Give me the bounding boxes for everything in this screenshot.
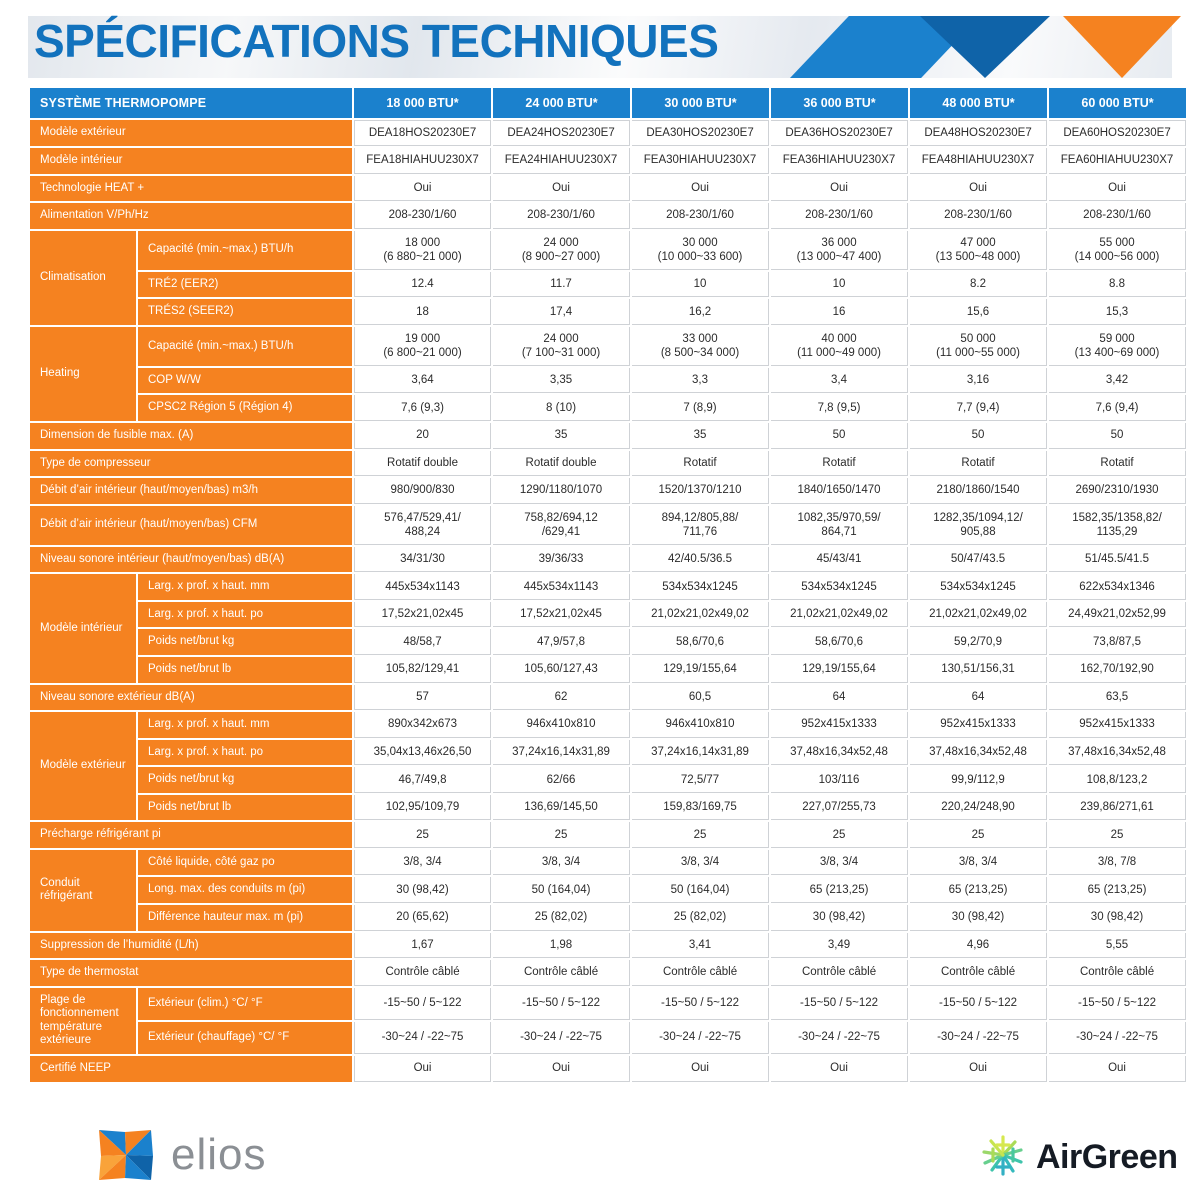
page-footer: elios [0, 1118, 1200, 1200]
cell-value: 8.8 [1049, 272, 1186, 298]
row-sublabel: Larg. x prof. x haut. po [138, 602, 352, 628]
cell-value: 3/8, 3/4 [632, 850, 769, 876]
cell-value: 7,7 (9,4) [910, 395, 1047, 421]
airgreen-logo: AirGreen [980, 1132, 1178, 1183]
cell-value: 45/43/41 [771, 547, 908, 573]
cell-value: 65 (213,25) [1049, 877, 1186, 903]
cell-value: 59 000(13 400~69 000) [1049, 327, 1186, 366]
elios-wordmark: elios [171, 1130, 267, 1180]
table-row: Technologie HEAT +OuiOuiOuiOuiOuiOui [30, 176, 1186, 202]
cell-value: 239,86/271,61 [1049, 795, 1186, 821]
cell-value: 1582,35/1358,82/1135,29 [1049, 506, 1186, 545]
cell-value: 50 [771, 423, 908, 449]
row-sublabel: Capacité (min.~max.) BTU/h [138, 327, 352, 366]
table-row: HeatingCapacité (min.~max.) BTU/h19 000(… [30, 327, 1186, 366]
header-column-5: 48 000 BTU* [910, 88, 1047, 118]
cell-value: 4,96 [910, 933, 1047, 959]
cell-value: 102,95/109,79 [354, 795, 491, 821]
table-row: Modèle extérieurDEA18HOS20230E7DEA24HOS2… [30, 120, 1186, 146]
cell-value: 3,3 [632, 368, 769, 394]
cell-value: 25 [632, 822, 769, 848]
cell-value: 33 000(8 500~34 000) [632, 327, 769, 366]
header-column-2: 24 000 BTU* [493, 88, 630, 118]
cell-value: 57 [354, 685, 491, 711]
cell-value: 952x415x1333 [910, 712, 1047, 738]
cell-value: 11.7 [493, 272, 630, 298]
cell-value: 445x534x1143 [493, 574, 630, 600]
cell-value: 3/8, 7/8 [1049, 850, 1186, 876]
cell-value: 108,8/123,2 [1049, 767, 1186, 793]
cell-value: 3/8, 3/4 [493, 850, 630, 876]
cell-value: 24 000(8 900~27 000) [493, 231, 630, 270]
cell-value: 894,12/805,88/711,76 [632, 506, 769, 545]
cell-value: 3,49 [771, 933, 908, 959]
row-label: Certifié NEEP [30, 1056, 352, 1082]
cell-value: 3,64 [354, 368, 491, 394]
cell-value: 8.2 [910, 272, 1047, 298]
row-group-label: Modèle intérieur [30, 574, 136, 682]
cell-value: 208-230/1/60 [910, 203, 1047, 229]
airgreen-wordmark: AirGreen [1036, 1138, 1178, 1177]
cell-value: Oui [1049, 176, 1186, 202]
cell-value: Oui [493, 1056, 630, 1082]
row-label: Débit d’air intérieur (haut/moyen/bas) C… [30, 506, 352, 545]
cell-value: Oui [771, 1056, 908, 1082]
row-sublabel: Larg. x prof. x haut. po [138, 740, 352, 766]
cell-value: 208-230/1/60 [771, 203, 908, 229]
cell-value: Contrôle câblé [910, 960, 1047, 986]
cell-value: 18 [354, 299, 491, 325]
cell-value: 24,49x21,02x52,99 [1049, 602, 1186, 628]
cell-value: Rotatif [910, 451, 1047, 477]
cell-value: 36 000(13 000~47 400) [771, 231, 908, 270]
cell-value: 50 (164,04) [632, 877, 769, 903]
cell-value: 12.4 [354, 272, 491, 298]
cell-value: 62/66 [493, 767, 630, 793]
table-row: Débit d’air intérieur (haut/moyen/bas) m… [30, 478, 1186, 504]
cell-value: 18 000(6 880~21 000) [354, 231, 491, 270]
cell-value: -30~24 / -22~75 [771, 1022, 908, 1054]
table-row: Plage de fonctionnement température exté… [30, 988, 1186, 1020]
cell-value: Oui [1049, 1056, 1186, 1082]
cell-value: 220,24/248,90 [910, 795, 1047, 821]
cell-value: FEA60HIAHUU230X7 [1049, 148, 1186, 174]
cell-value: 2690/2310/1930 [1049, 478, 1186, 504]
cell-value: 50 (164,04) [493, 877, 630, 903]
cell-value: -30~24 / -22~75 [910, 1022, 1047, 1054]
table-row: TRÉS2 (SEER2)1817,416,21615,615,3 [30, 299, 1186, 325]
cell-value: 37,48x16,34x52,48 [1049, 740, 1186, 766]
cell-value: 105,82/129,41 [354, 657, 491, 683]
cell-value: 3,4 [771, 368, 908, 394]
cell-value: Oui [771, 176, 908, 202]
table-row: Niveau sonore intérieur (haut/moyen/bas)… [30, 547, 1186, 573]
cell-value: 16,2 [632, 299, 769, 325]
cell-value: 445x534x1143 [354, 574, 491, 600]
cell-value: 758,82/694,12/629,41 [493, 506, 630, 545]
cell-value: 208-230/1/60 [354, 203, 491, 229]
cell-value: 50 [1049, 423, 1186, 449]
cell-value: 952x415x1333 [1049, 712, 1186, 738]
cell-value: 34/31/30 [354, 547, 491, 573]
cell-value: FEA36HIAHUU230X7 [771, 148, 908, 174]
header-column-3: 30 000 BTU* [632, 88, 769, 118]
row-label: Dimension de fusible max. (A) [30, 423, 352, 449]
cell-value: 73,8/87,5 [1049, 629, 1186, 655]
cell-value: Contrôle câblé [632, 960, 769, 986]
cell-value: 48/58,7 [354, 629, 491, 655]
cell-value: Oui [493, 176, 630, 202]
cell-value: 25 [771, 822, 908, 848]
cell-value: 35,04x13,46x26,50 [354, 740, 491, 766]
table-row: Type de thermostatContrôle câbléContrôle… [30, 960, 1186, 986]
cell-value: 25 (82,02) [493, 905, 630, 931]
row-label: Niveau sonore extérieur dB(A) [30, 685, 352, 711]
table-row: Précharge réfrigérant pi252525252525 [30, 822, 1186, 848]
spec-sheet-page: SPÉCIFICATIONS TECHNIQUES SYSTÈME THERMO… [0, 0, 1200, 1200]
table-row: Poids net/brut kg46,7/49,862/6672,5/7710… [30, 767, 1186, 793]
cell-value: 17,52x21,02x45 [354, 602, 491, 628]
cell-value: 7,8 (9,5) [771, 395, 908, 421]
row-group-label: Plage de fonctionnement température exté… [30, 988, 136, 1054]
row-sublabel: Côté liquide, côté gaz po [138, 850, 352, 876]
cell-value: Contrôle câblé [1049, 960, 1186, 986]
row-label: Modèle intérieur [30, 148, 352, 174]
cell-value: 37,48x16,34x52,48 [771, 740, 908, 766]
cell-value: 20 [354, 423, 491, 449]
row-sublabel: TRÉ2 (EER2) [138, 272, 352, 298]
cell-value: DEA30HOS20230E7 [632, 120, 769, 146]
cell-value: 30 000(10 000~33 600) [632, 231, 769, 270]
row-label: Niveau sonore intérieur (haut/moyen/bas)… [30, 547, 352, 573]
row-sublabel: Extérieur (chauffage) °C/ °F [138, 1022, 352, 1054]
header-column-6: 60 000 BTU* [1049, 88, 1186, 118]
cell-value: 129,19/155,64 [771, 657, 908, 683]
header-label-cell: SYSTÈME THERMOPOMPE [30, 88, 352, 118]
cell-value: 25 [354, 822, 491, 848]
cell-value: Rotatif double [354, 451, 491, 477]
cell-value: -15~50 / 5~122 [354, 988, 491, 1020]
cell-value: 65 (213,25) [910, 877, 1047, 903]
cell-value: 3/8, 3/4 [910, 850, 1047, 876]
cell-value: Contrôle câblé [354, 960, 491, 986]
cell-value: 890x342x673 [354, 712, 491, 738]
cell-value: 534x534x1245 [632, 574, 769, 600]
table-row: Larg. x prof. x haut. po17,52x21,02x4517… [30, 602, 1186, 628]
table-row: Certifié NEEPOuiOuiOuiOuiOuiOui [30, 1056, 1186, 1082]
cell-value: 7 (8,9) [632, 395, 769, 421]
cell-value: 3,42 [1049, 368, 1186, 394]
row-label: Alimentation V/Ph/Hz [30, 203, 352, 229]
cell-value: 130,51/156,31 [910, 657, 1047, 683]
cell-value: -30~24 / -22~75 [632, 1022, 769, 1054]
cell-value: 10 [632, 272, 769, 298]
row-sublabel: TRÉS2 (SEER2) [138, 299, 352, 325]
cell-value: 59,2/70,9 [910, 629, 1047, 655]
header-column-4: 36 000 BTU* [771, 88, 908, 118]
table-row: Larg. x prof. x haut. po35,04x13,46x26,5… [30, 740, 1186, 766]
cell-value: 1,67 [354, 933, 491, 959]
cell-value: 99,9/112,9 [910, 767, 1047, 793]
table-row: Suppression de l’humidité (L/h)1,671,983… [30, 933, 1186, 959]
cell-value: 17,52x21,02x45 [493, 602, 630, 628]
cell-value: 534x534x1245 [910, 574, 1047, 600]
cell-value: Oui [354, 1056, 491, 1082]
cell-value: 1082,35/970,59/864,71 [771, 506, 908, 545]
cell-value: 7,6 (9,3) [354, 395, 491, 421]
table-row: Type de compresseurRotatif doubleRotatif… [30, 451, 1186, 477]
cell-value: Oui [910, 176, 1047, 202]
cell-value: 50 [910, 423, 1047, 449]
cell-value: 35 [493, 423, 630, 449]
table-row: Modèle intérieurLarg. x prof. x haut. mm… [30, 574, 1186, 600]
cell-value: 72,5/77 [632, 767, 769, 793]
cell-value: 25 [910, 822, 1047, 848]
cell-value: 2180/1860/1540 [910, 478, 1047, 504]
cell-value: 17,4 [493, 299, 630, 325]
row-group-label: Climatisation [30, 231, 136, 325]
page-title: SPÉCIFICATIONS TECHNIQUES [34, 14, 718, 68]
table-row: Modèle intérieurFEA18HIAHUU230X7FEA24HIA… [30, 148, 1186, 174]
cell-value: 30 (98,42) [771, 905, 908, 931]
cell-value: 946x410x810 [632, 712, 769, 738]
table-row: Long. max. des conduits m (pi)30 (98,42)… [30, 877, 1186, 903]
cell-value: Rotatif [771, 451, 908, 477]
table-row: TRÉ2 (EER2)12.411.710108.28.8 [30, 272, 1186, 298]
table-row: Débit d’air intérieur (haut/moyen/bas) C… [30, 506, 1186, 545]
cell-value: 1282,35/1094,12/905,88 [910, 506, 1047, 545]
spec-table: SYSTÈME THERMOPOMPE18 000 BTU*24 000 BTU… [28, 86, 1188, 1084]
cell-value: 47 000(13 500~48 000) [910, 231, 1047, 270]
cell-value: Oui [354, 176, 491, 202]
table-header-row: SYSTÈME THERMOPOMPE18 000 BTU*24 000 BTU… [30, 88, 1186, 118]
table-row: Conduit réfrigérantCôté liquide, côté ga… [30, 850, 1186, 876]
cell-value: Contrôle câblé [493, 960, 630, 986]
cell-value: -30~24 / -22~75 [1049, 1022, 1186, 1054]
cell-value: 35 [632, 423, 769, 449]
row-label: Modèle extérieur [30, 120, 352, 146]
cell-value: DEA48HOS20230E7 [910, 120, 1047, 146]
table-row: Modèle extérieurLarg. x prof. x haut. mm… [30, 712, 1186, 738]
cell-value: 129,19/155,64 [632, 657, 769, 683]
row-group-label: Modèle extérieur [30, 712, 136, 820]
spec-table-body: SYSTÈME THERMOPOMPE18 000 BTU*24 000 BTU… [30, 88, 1186, 1082]
table-row: Extérieur (chauffage) °C/ °F-30~24 / -22… [30, 1022, 1186, 1054]
table-row: Dimension de fusible max. (A)20353550505… [30, 423, 1186, 449]
cell-value: FEA30HIAHUU230X7 [632, 148, 769, 174]
cell-value: FEA48HIAHUU230X7 [910, 148, 1047, 174]
cell-value: 1520/1370/1210 [632, 478, 769, 504]
cell-value: Rotatif double [493, 451, 630, 477]
cell-value: 1,98 [493, 933, 630, 959]
cell-value: 16 [771, 299, 908, 325]
row-sublabel: Larg. x prof. x haut. mm [138, 574, 352, 600]
row-group-label: Heating [30, 327, 136, 421]
cell-value: Rotatif [632, 451, 769, 477]
elios-pinwheel-icon [95, 1124, 157, 1186]
row-label: Suppression de l’humidité (L/h) [30, 933, 352, 959]
cell-value: 159,83/169,75 [632, 795, 769, 821]
row-sublabel: Poids net/brut kg [138, 629, 352, 655]
cell-value: 227,07/255,73 [771, 795, 908, 821]
cell-value: -15~50 / 5~122 [493, 988, 630, 1020]
cell-value: Rotatif [1049, 451, 1186, 477]
cell-value: 47,9/57,8 [493, 629, 630, 655]
row-label: Type de compresseur [30, 451, 352, 477]
row-sublabel: Capacité (min.~max.) BTU/h [138, 231, 352, 270]
cell-value: 64 [910, 685, 1047, 711]
cell-value: 58,6/70,6 [771, 629, 908, 655]
cell-value: 63,5 [1049, 685, 1186, 711]
cell-value: 3,35 [493, 368, 630, 394]
cell-value: 19 000(6 800~21 000) [354, 327, 491, 366]
cell-value: Contrôle câblé [771, 960, 908, 986]
cell-value: 25 [493, 822, 630, 848]
cell-value: FEA18HIAHUU230X7 [354, 148, 491, 174]
row-sublabel: COP W/W [138, 368, 352, 394]
table-row: ClimatisationCapacité (min.~max.) BTU/h1… [30, 231, 1186, 270]
cell-value: -15~50 / 5~122 [632, 988, 769, 1020]
cell-value: 65 (213,25) [771, 877, 908, 903]
row-sublabel: Poids net/brut lb [138, 795, 352, 821]
cell-value: 8 (10) [493, 395, 630, 421]
cell-value: DEA18HOS20230E7 [354, 120, 491, 146]
cell-value: 15,3 [1049, 299, 1186, 325]
cell-value: Oui [632, 176, 769, 202]
table-row: Différence hauteur max. m (pi)20 (65,62)… [30, 905, 1186, 931]
cell-value: 1840/1650/1470 [771, 478, 908, 504]
cell-value: 622x534x1346 [1049, 574, 1186, 600]
table-row: CPSC2 Région 5 (Région 4)7,6 (9,3)8 (10)… [30, 395, 1186, 421]
row-group-label: Conduit réfrigérant [30, 850, 136, 931]
row-sublabel: Long. max. des conduits m (pi) [138, 877, 352, 903]
cell-value: -30~24 / -22~75 [354, 1022, 491, 1054]
table-row: Poids net/brut kg48/58,747,9/57,858,6/70… [30, 629, 1186, 655]
cell-value: 980/900/830 [354, 478, 491, 504]
table-row: Poids net/brut lb102,95/109,79136,69/145… [30, 795, 1186, 821]
cell-value: 50 000(11 000~55 000) [910, 327, 1047, 366]
row-sublabel: Poids net/brut lb [138, 657, 352, 683]
spec-table-wrapper: SYSTÈME THERMOPOMPE18 000 BTU*24 000 BTU… [28, 86, 1172, 1084]
row-label: Technologie HEAT + [30, 176, 352, 202]
cell-value: DEA24HOS20230E7 [493, 120, 630, 146]
cell-value: 46,7/49,8 [354, 767, 491, 793]
cell-value: 30 (98,42) [910, 905, 1047, 931]
cell-value: 105,60/127,43 [493, 657, 630, 683]
cell-value: 51/45.5/41.5 [1049, 547, 1186, 573]
cell-value: 37,48x16,34x52,48 [910, 740, 1047, 766]
airgreen-starburst-icon [980, 1132, 1026, 1183]
row-sublabel: CPSC2 Région 5 (Région 4) [138, 395, 352, 421]
cell-value: 58,6/70,6 [632, 629, 769, 655]
cell-value: 30 (98,42) [1049, 905, 1186, 931]
cell-value: 1290/1180/1070 [493, 478, 630, 504]
row-sublabel: Larg. x prof. x haut. mm [138, 712, 352, 738]
cell-value: 50/47/43.5 [910, 547, 1047, 573]
cell-value: -30~24 / -22~75 [493, 1022, 630, 1054]
row-label: Débit d’air intérieur (haut/moyen/bas) m… [30, 478, 352, 504]
row-label: Type de thermostat [30, 960, 352, 986]
cell-value: 55 000(14 000~56 000) [1049, 231, 1186, 270]
cell-value: -15~50 / 5~122 [910, 988, 1047, 1020]
row-sublabel: Différence hauteur max. m (pi) [138, 905, 352, 931]
cell-value: 30 (98,42) [354, 877, 491, 903]
table-row: Poids net/brut lb105,82/129,41105,60/127… [30, 657, 1186, 683]
cell-value: 21,02x21,02x49,02 [771, 602, 908, 628]
cell-value: -15~50 / 5~122 [771, 988, 908, 1020]
cell-value: 3/8, 3/4 [771, 850, 908, 876]
cell-value: 64 [771, 685, 908, 711]
cell-value: 534x534x1245 [771, 574, 908, 600]
cell-value: 39/36/33 [493, 547, 630, 573]
cell-value: 136,69/145,50 [493, 795, 630, 821]
table-row: COP W/W3,643,353,33,43,163,42 [30, 368, 1186, 394]
cell-value: Oui [910, 1056, 1047, 1082]
cell-value: 40 000(11 000~49 000) [771, 327, 908, 366]
cell-value: 15,6 [910, 299, 1047, 325]
cell-value: -15~50 / 5~122 [1049, 988, 1186, 1020]
cell-value: 162,70/192,90 [1049, 657, 1186, 683]
page-header: SPÉCIFICATIONS TECHNIQUES [0, 0, 1200, 84]
cell-value: 3/8, 3/4 [354, 850, 491, 876]
cell-value: DEA36HOS20230E7 [771, 120, 908, 146]
cell-value: 208-230/1/60 [632, 203, 769, 229]
row-sublabel: Extérieur (clim.) °C/ °F [138, 988, 352, 1020]
cell-value: DEA60HOS20230E7 [1049, 120, 1186, 146]
cell-value: 7,6 (9,4) [1049, 395, 1186, 421]
cell-value: 37,24x16,14x31,89 [493, 740, 630, 766]
cell-value: 37,24x16,14x31,89 [632, 740, 769, 766]
cell-value: 946x410x810 [493, 712, 630, 738]
cell-value: Oui [632, 1056, 769, 1082]
cell-value: 208-230/1/60 [1049, 203, 1186, 229]
cell-value: 25 (82,02) [632, 905, 769, 931]
row-sublabel: Poids net/brut kg [138, 767, 352, 793]
table-row: Alimentation V/Ph/Hz208-230/1/60208-230/… [30, 203, 1186, 229]
cell-value: 62 [493, 685, 630, 711]
header-column-1: 18 000 BTU* [354, 88, 491, 118]
cell-value: 42/40.5/36.5 [632, 547, 769, 573]
cell-value: 60,5 [632, 685, 769, 711]
row-label: Précharge réfrigérant pi [30, 822, 352, 848]
cell-value: 10 [771, 272, 908, 298]
cell-value: FEA24HIAHUU230X7 [493, 148, 630, 174]
cell-value: 5,55 [1049, 933, 1186, 959]
cell-value: 3,41 [632, 933, 769, 959]
cell-value: 21,02x21,02x49,02 [910, 602, 1047, 628]
cell-value: 24 000(7 100~31 000) [493, 327, 630, 366]
cell-value: 21,02x21,02x49,02 [632, 602, 769, 628]
cell-value: 25 [1049, 822, 1186, 848]
cell-value: 952x415x1333 [771, 712, 908, 738]
cell-value: 208-230/1/60 [493, 203, 630, 229]
table-row: Niveau sonore extérieur dB(A)576260,5646… [30, 685, 1186, 711]
elios-logo: elios [95, 1124, 267, 1186]
cell-value: 3,16 [910, 368, 1047, 394]
cell-value: 20 (65,62) [354, 905, 491, 931]
cell-value: 103/116 [771, 767, 908, 793]
cell-value: 576,47/529,41/488,24 [354, 506, 491, 545]
